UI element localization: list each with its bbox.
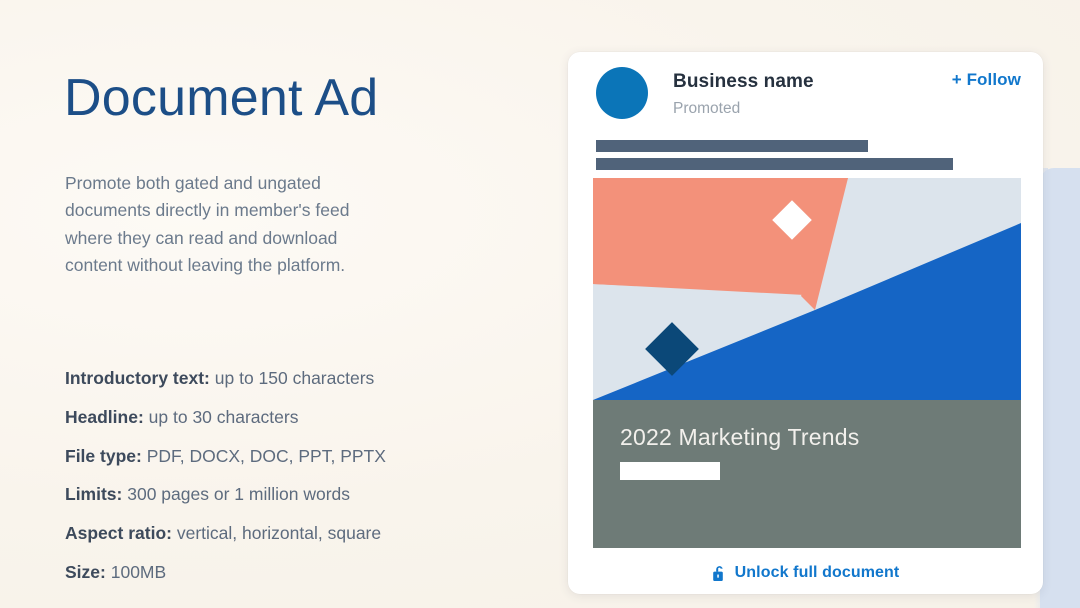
- page-description: Promote both gated and ungated documents…: [65, 170, 395, 279]
- background-accent-panel: [1040, 168, 1080, 608]
- spec-list: Introductory text: up to 150 characters …: [65, 359, 505, 592]
- spec-value: up to 150 characters: [215, 368, 375, 388]
- spec-row-headline: Headline: up to 30 characters: [65, 398, 505, 437]
- spec-value: 300 pages or 1 million words: [127, 484, 350, 504]
- spec-value: 100MB: [111, 562, 166, 582]
- document-preview[interactable]: 2022 Marketing Trends: [593, 178, 1021, 548]
- document-caption-band: 2022 Marketing Trends: [593, 400, 1021, 548]
- spec-label: File type:: [65, 446, 142, 466]
- page-title: Document Ad: [64, 72, 378, 124]
- left-content-column: Document Ad Promote both gated and ungat…: [64, 0, 534, 608]
- spec-row-size: Size: 100MB: [65, 553, 505, 592]
- business-name[interactable]: Business name: [673, 71, 814, 93]
- spec-value: up to 30 characters: [149, 407, 299, 427]
- spec-row-introductory-text: Introductory text: up to 150 characters: [65, 359, 505, 398]
- spec-row-file-type: File type: PDF, DOCX, DOC, PPT, PPTX: [65, 437, 505, 476]
- follow-button[interactable]: + Follow: [952, 70, 1021, 90]
- unlock-full-document-label: Unlock full document: [735, 564, 900, 582]
- intro-text-placeholder-bar-2: [596, 158, 953, 170]
- unlock-icon: [712, 565, 727, 582]
- unlock-full-document-button[interactable]: Unlock full document: [568, 552, 1043, 594]
- intro-text-placeholder-bar-1: [596, 140, 868, 152]
- spec-value: vertical, horizontal, square: [177, 523, 381, 543]
- avatar[interactable]: [596, 67, 648, 119]
- spec-row-limits: Limits: 300 pages or 1 million words: [65, 475, 505, 514]
- spec-label: Aspect ratio:: [65, 523, 172, 543]
- spec-label: Introductory text:: [65, 368, 210, 388]
- document-title: 2022 Marketing Trends: [620, 424, 859, 451]
- ad-preview-card: Business name Promoted + Follow 2022 Mar…: [568, 52, 1043, 594]
- ad-card-header: Business name Promoted + Follow: [568, 52, 1043, 127]
- spec-label: Headline:: [65, 407, 144, 427]
- promoted-label: Promoted: [673, 100, 740, 118]
- document-subtitle-placeholder-bar: [620, 462, 720, 480]
- spec-label: Limits:: [65, 484, 122, 504]
- spec-row-aspect-ratio: Aspect ratio: vertical, horizontal, squa…: [65, 514, 505, 553]
- document-cover-artwork: [593, 178, 1021, 400]
- spec-value: PDF, DOCX, DOC, PPT, PPTX: [147, 446, 386, 466]
- spec-label: Size:: [65, 562, 106, 582]
